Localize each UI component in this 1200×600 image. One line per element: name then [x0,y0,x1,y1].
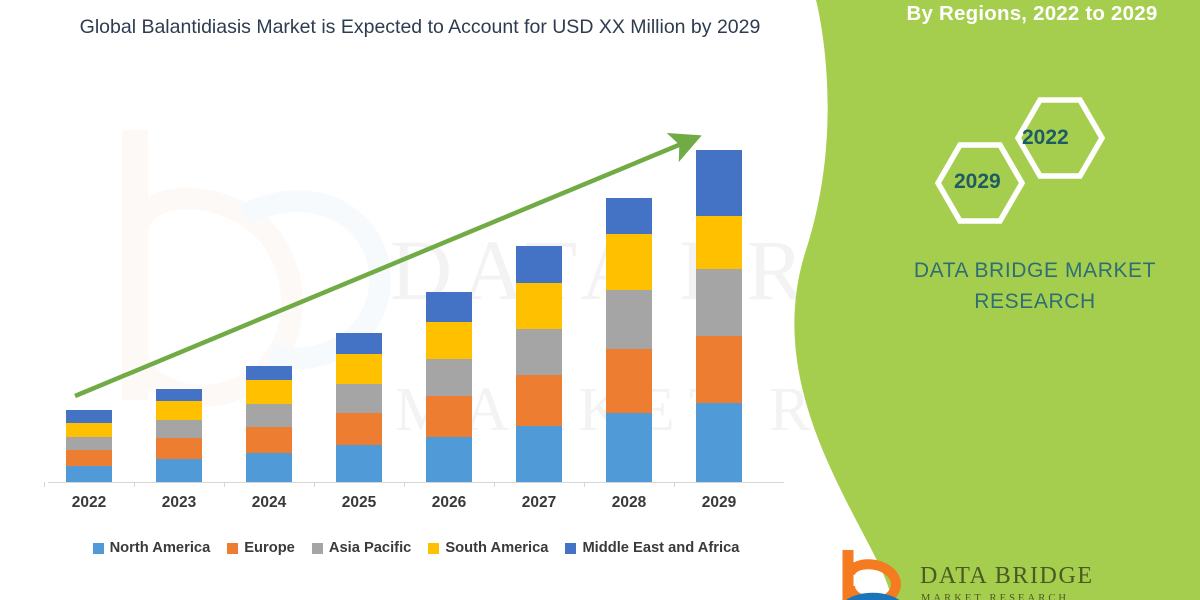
bar-segment [246,404,292,427]
bar-segment [336,384,382,413]
x-axis-tick-mark [674,482,675,487]
bar-segment [246,453,292,482]
bar-segment [66,437,112,450]
bar-segment [426,292,472,322]
bar-segment [426,437,472,482]
hexagon-label-2022: 2022 [1022,126,1069,150]
bar-2026 [426,292,472,482]
bar-segment [156,401,202,419]
bar-segment [696,269,742,336]
logo-name: DATA BRIDGE [920,563,1094,590]
legend-swatch-icon [565,543,576,554]
legend-item-south-america[interactable]: South America [428,540,548,556]
x-tick-2023: 2023 [144,494,214,512]
bar-segment [66,450,112,465]
bar-2027 [516,246,562,482]
legend-item-north-america[interactable]: North America [93,540,211,556]
bar-segment [156,459,202,482]
bar-segment [246,380,292,404]
bar-2029 [696,150,742,483]
legend-label: Middle East and Africa [582,540,739,556]
bar-segment [606,290,652,350]
x-axis-tick-mark [404,482,405,487]
brand-name: DATA BRIDGE MARKET RESEARCH [880,255,1190,317]
bar-segment [696,336,742,403]
bar-segment [606,198,652,235]
bar-segment [606,413,652,482]
hexagon-outline-shapes [930,90,1150,225]
legend-swatch-icon [428,543,439,554]
bar-segment [426,396,472,437]
bar-segment [516,329,562,375]
chart-legend: North AmericaEuropeAsia PacificSouth Ame… [48,540,784,556]
bar-segment [246,427,292,453]
bar-segment [606,234,652,290]
databridge-b-icon [840,550,916,600]
bar-segment [696,216,742,269]
bar-segment [336,413,382,446]
x-tick-2026: 2026 [414,494,484,512]
bar-segment [516,246,562,283]
hexagon-label-2029: 2029 [954,170,1001,194]
databridge-logo: DATA BRIDGE MARKET RESEARCH [840,550,1170,600]
x-axis-tick-mark [134,482,135,487]
bar-2025 [336,333,382,482]
x-axis-tick-mark [494,482,495,487]
legend-label: South America [445,540,548,556]
x-tick-2028: 2028 [594,494,664,512]
legend-label: Asia Pacific [329,540,411,556]
x-axis-tick-mark [44,482,45,487]
bar-segment [156,438,202,459]
legend-label: North America [110,540,211,556]
bar-segment [246,366,292,380]
bar-segment [516,283,562,329]
bar-2024 [246,366,292,482]
chart-plot-area: 20222023202420252026202720282029 [0,0,800,600]
bar-segment [426,322,472,359]
bar-2028 [606,198,652,482]
bar-segment [606,349,652,412]
x-tick-2025: 2025 [324,494,394,512]
legend-swatch-icon [312,543,323,554]
panel-title: By Regions, 2022 to 2029 [872,2,1192,26]
bar-segment [156,420,202,438]
bar-segment [696,403,742,482]
bar-2023 [156,389,202,482]
legend-label: Europe [244,540,295,556]
x-axis-tick-mark [224,482,225,487]
bar-segment [516,375,562,426]
x-tick-2029: 2029 [684,494,754,512]
x-tick-2024: 2024 [234,494,304,512]
infographic-canvas: DATA BRIDGE MARKET RESEARCH Global Balan… [0,0,1200,600]
bar-segment [66,410,112,423]
legend-swatch-icon [93,543,104,554]
legend-item-asia-pacific[interactable]: Asia Pacific [312,540,411,556]
x-tick-2027: 2027 [504,494,574,512]
x-axis-tick-mark [314,482,315,487]
bar-segment [66,466,112,482]
x-axis-tick-mark [584,482,585,487]
bar-segment [336,333,382,354]
hexagon-badges: 2022 2029 [930,90,1150,225]
x-tick-2022: 2022 [54,494,124,512]
bar-segment [426,359,472,396]
bar-segment [336,445,382,482]
bar-segment [696,150,742,216]
legend-item-middle-east-and-africa[interactable]: Middle East and Africa [565,540,739,556]
bar-segment [336,354,382,384]
legend-item-europe[interactable]: Europe [227,540,295,556]
bar-segment [516,426,562,482]
logo-subtitle: MARKET RESEARCH [921,593,1069,600]
bar-2022 [66,410,112,482]
bar-segment [156,389,202,401]
legend-swatch-icon [227,543,238,554]
bar-segment [66,423,112,436]
